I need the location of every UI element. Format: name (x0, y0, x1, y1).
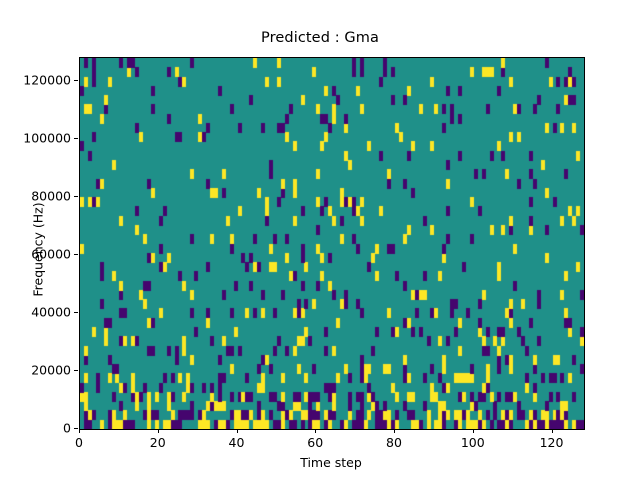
page-title: Predicted : Gma (0, 30, 640, 46)
x-tick-mark (552, 429, 553, 433)
y-tick-mark (74, 428, 78, 429)
x-tick-label: 40 (229, 435, 245, 450)
x-tick-label: 80 (386, 435, 402, 450)
y-tick-mark (74, 196, 78, 197)
y-tick-label: 0 (0, 421, 71, 436)
y-tick-mark (74, 370, 78, 371)
heatmap-axes (79, 57, 585, 430)
x-tick-label: 20 (150, 435, 166, 450)
y-axis-label: Frequency (Hz) (31, 170, 46, 330)
x-tick-label: 120 (540, 435, 564, 450)
heatmap-image (80, 58, 584, 429)
x-tick-label: 60 (307, 435, 323, 450)
y-tick-mark (74, 138, 78, 139)
y-tick-mark (74, 254, 78, 255)
x-tick-label: 0 (75, 435, 83, 450)
x-tick-mark (315, 429, 316, 433)
x-tick-mark (394, 429, 395, 433)
y-tick-label: 20000 (0, 363, 71, 378)
y-tick-label: 100000 (0, 131, 71, 146)
y-tick-label: 120000 (0, 73, 71, 88)
x-tick-mark (237, 429, 238, 433)
x-tick-mark (79, 429, 80, 433)
y-tick-mark (74, 80, 78, 81)
x-tick-mark (158, 429, 159, 433)
x-tick-label: 100 (461, 435, 485, 450)
x-axis-label: Time step (79, 455, 583, 470)
y-tick-mark (74, 312, 78, 313)
figure-canvas: Predicted : Gma 020406080100120 02000040… (0, 0, 640, 480)
x-tick-mark (473, 429, 474, 433)
